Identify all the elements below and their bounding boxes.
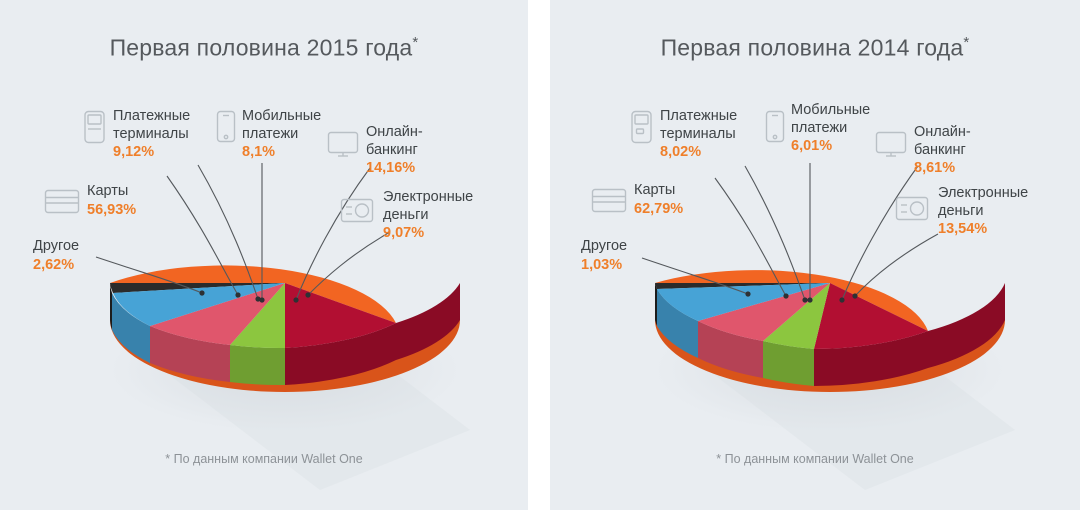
pie-top-faces bbox=[110, 265, 396, 348]
label-emoney-2014: Электронные деньги 13,54% bbox=[938, 185, 1028, 239]
label-terminals-2015: Платежные терминалы 9,12% bbox=[113, 108, 190, 162]
label-pct: 8,61% bbox=[914, 160, 971, 178]
label-line1: Платежные bbox=[660, 108, 737, 126]
pie-sides bbox=[110, 283, 460, 392]
label-pct: 14,16% bbox=[366, 160, 423, 178]
label-other-2015: Другое 2,62% bbox=[33, 238, 79, 274]
pie-sides bbox=[655, 283, 1005, 392]
label-line2: деньги bbox=[938, 203, 1028, 221]
payment-terminal-icon bbox=[630, 110, 654, 144]
label-line2: деньги bbox=[383, 207, 473, 225]
label-line2: платежи bbox=[242, 126, 321, 144]
label-line1: Онлайн- bbox=[914, 124, 971, 142]
e-money-icon bbox=[340, 198, 374, 223]
pie-top-faces bbox=[655, 270, 928, 349]
label-line1: Мобильные bbox=[791, 102, 870, 120]
label-line1: Электронные bbox=[383, 189, 473, 207]
label-mobile-2014: Мобильные платежи 6,01% bbox=[791, 102, 870, 156]
page-title-2015: Первая половина 2015 года* bbox=[0, 34, 528, 62]
label-line1: Электронные bbox=[938, 185, 1028, 203]
payment-terminal-icon bbox=[83, 110, 107, 144]
title-text: Первая половина 2014 года bbox=[661, 35, 964, 61]
label-pct: 9,07% bbox=[383, 225, 473, 243]
monitor-icon bbox=[327, 131, 359, 158]
footnote-2014: * По данным компании Wallet One bbox=[550, 452, 1080, 466]
label-line2: банкинг bbox=[366, 142, 423, 160]
label-other-2014: Другое 1,03% bbox=[581, 238, 627, 274]
credit-card-icon bbox=[44, 189, 80, 214]
label-line1: Карты bbox=[87, 183, 136, 201]
leader-lines bbox=[642, 163, 938, 300]
footnote-2015: * По данным компании Wallet One bbox=[0, 452, 528, 466]
label-line2: платежи bbox=[791, 120, 870, 138]
label-line2: терминалы bbox=[660, 126, 737, 144]
label-terminals-2014: Платежные терминалы 8,02% bbox=[660, 108, 737, 162]
title-asterisk: * bbox=[963, 34, 969, 51]
chart-panel-2015: Первая половина 2015 года* bbox=[0, 0, 528, 510]
title-asterisk: * bbox=[412, 34, 418, 51]
pie-chart-2014 bbox=[550, 0, 1080, 510]
label-online-2015: Онлайн- банкинг 14,16% bbox=[366, 124, 423, 178]
pie-chart-2015 bbox=[0, 0, 528, 510]
label-pct: 8,1% bbox=[242, 144, 321, 162]
label-line1: Платежные bbox=[113, 108, 190, 126]
leader-dots bbox=[745, 291, 857, 302]
label-line1: Мобильные bbox=[242, 108, 321, 126]
title-text: Первая половина 2015 года bbox=[110, 35, 413, 61]
label-line1: Онлайн- bbox=[366, 124, 423, 142]
label-line2: банкинг bbox=[914, 142, 971, 160]
label-pct: 8,02% bbox=[660, 144, 737, 162]
smartphone-icon bbox=[216, 110, 236, 143]
monitor-icon bbox=[875, 131, 907, 158]
label-pct: 2,62% bbox=[33, 257, 79, 275]
credit-card-icon bbox=[591, 188, 627, 213]
label-line1: Другое bbox=[33, 238, 79, 256]
label-pct: 56,93% bbox=[87, 202, 136, 220]
label-online-2014: Онлайн- банкинг 8,61% bbox=[914, 124, 971, 178]
leader-lines bbox=[96, 163, 390, 300]
leader-dots bbox=[199, 290, 310, 302]
page-title-2014: Первая половина 2014 года* bbox=[550, 34, 1080, 62]
label-emoney-2015: Электронные деньги 9,07% bbox=[383, 189, 473, 243]
label-mobile-2015: Мобильные платежи 8,1% bbox=[242, 108, 321, 162]
label-pct: 1,03% bbox=[581, 257, 627, 275]
label-pct: 6,01% bbox=[791, 138, 870, 156]
panel-divider bbox=[528, 0, 550, 510]
e-money-icon bbox=[895, 196, 929, 221]
label-line1: Карты bbox=[634, 182, 683, 200]
label-line1: Другое bbox=[581, 238, 627, 256]
infographic-root: Первая половина 2015 года* bbox=[0, 0, 1080, 510]
label-line2: терминалы bbox=[113, 126, 190, 144]
label-cards-2014: Карты 62,79% bbox=[634, 182, 683, 218]
label-pct: 13,54% bbox=[938, 221, 1028, 239]
label-cards-2015: Карты 56,93% bbox=[87, 183, 136, 219]
chart-panel-2014: Первая половина 2014 года* bbox=[550, 0, 1080, 510]
label-pct: 9,12% bbox=[113, 144, 190, 162]
label-pct: 62,79% bbox=[634, 201, 683, 219]
smartphone-icon bbox=[765, 110, 785, 143]
